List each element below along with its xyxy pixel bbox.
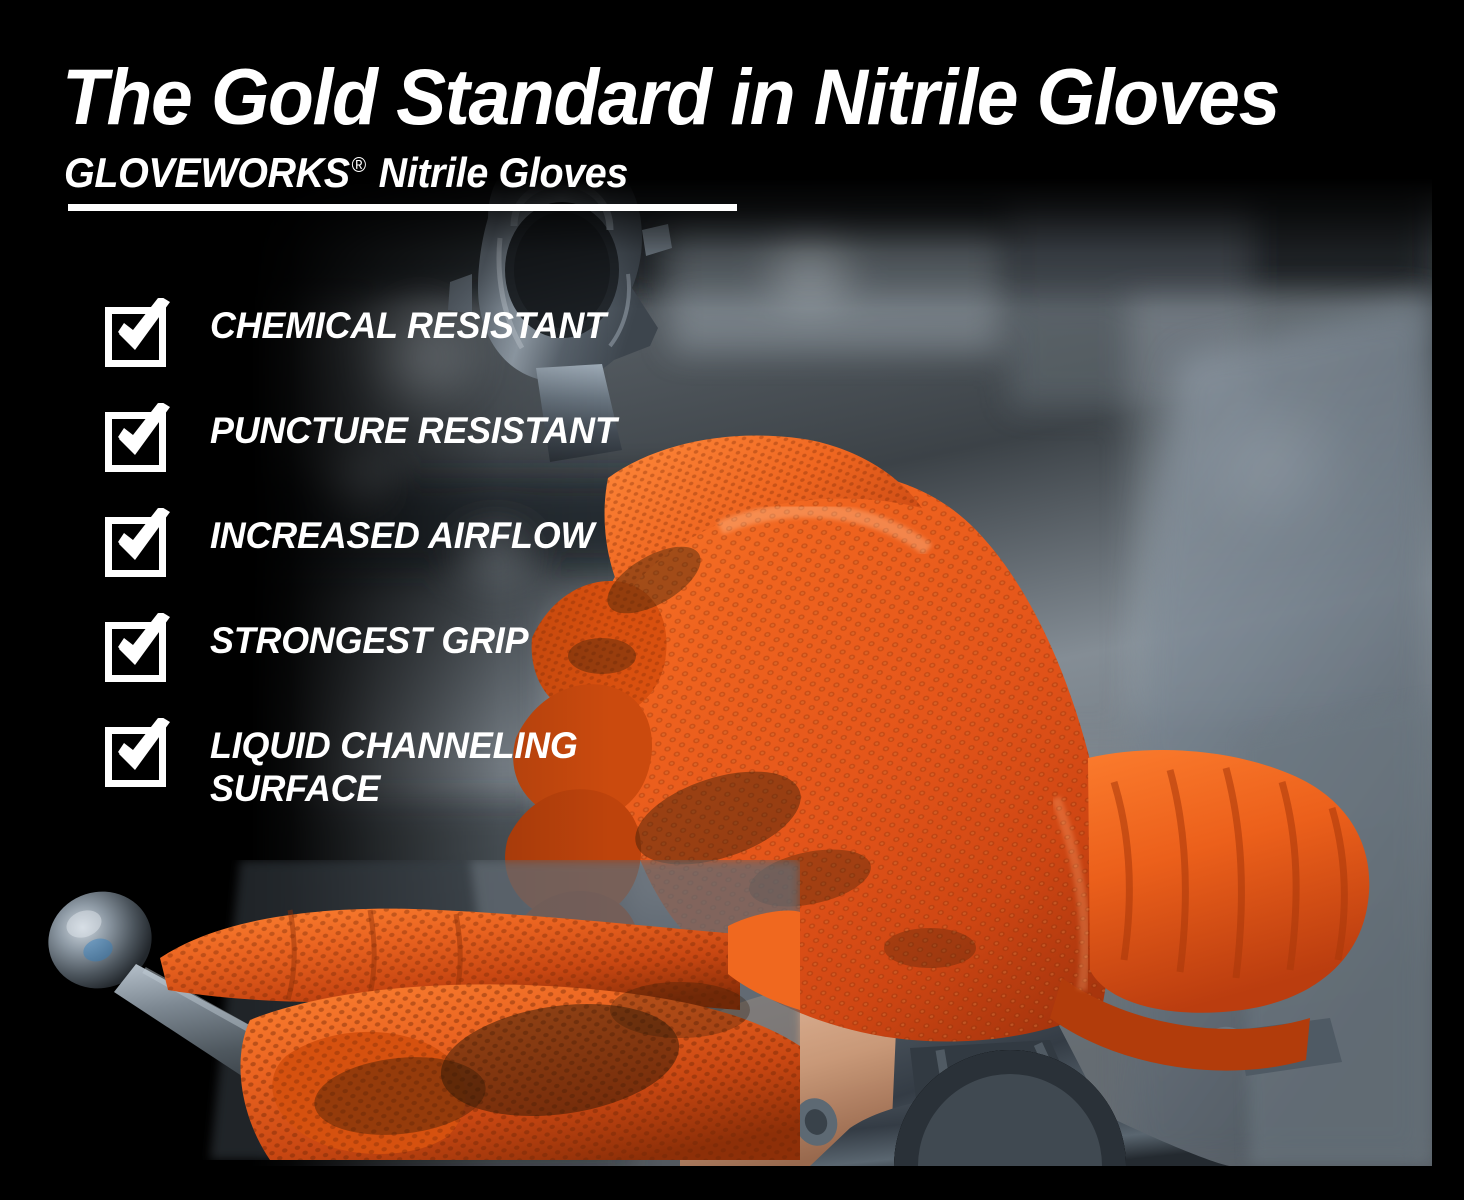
promo-banner: 45 45 [0, 0, 1464, 1200]
title-divider [68, 204, 737, 211]
brand-subtitle: GLOVEWORKS® Nitrile Gloves [64, 152, 628, 194]
feature-label: LIQUID CHANNELING SURFACE [210, 724, 578, 810]
page-title: The Gold Standard in Nitrile Gloves [62, 57, 1335, 136]
product-photo-secondary [40, 860, 800, 1160]
feature-label: PUNCTURE RESISTANT [210, 409, 617, 452]
feature-label: CHEMICAL RESISTANT [210, 304, 606, 347]
list-item: CHEMICAL RESISTANT [104, 296, 724, 401]
list-item: LIQUID CHANNELING SURFACE [104, 716, 724, 821]
product-name: Nitrile Gloves [368, 149, 628, 196]
checked-checkbox-icon [104, 508, 178, 578]
checked-checkbox-icon [104, 403, 178, 473]
feature-list: CHEMICAL RESISTANT PUNCTURE RESISTANT [104, 296, 724, 821]
checked-checkbox-icon [104, 718, 178, 788]
feature-label: INCREASED AIRFLOW [210, 514, 594, 557]
checked-checkbox-icon [104, 613, 178, 683]
checked-checkbox-icon [104, 298, 178, 368]
list-item: STRONGEST GRIP [104, 611, 724, 716]
feature-label: STRONGEST GRIP [210, 619, 528, 662]
brand-name: GLOVEWORKS [64, 149, 350, 196]
list-item: PUNCTURE RESISTANT [104, 401, 724, 506]
registered-trademark-icon: ® [350, 154, 368, 177]
list-item: INCREASED AIRFLOW [104, 506, 724, 611]
